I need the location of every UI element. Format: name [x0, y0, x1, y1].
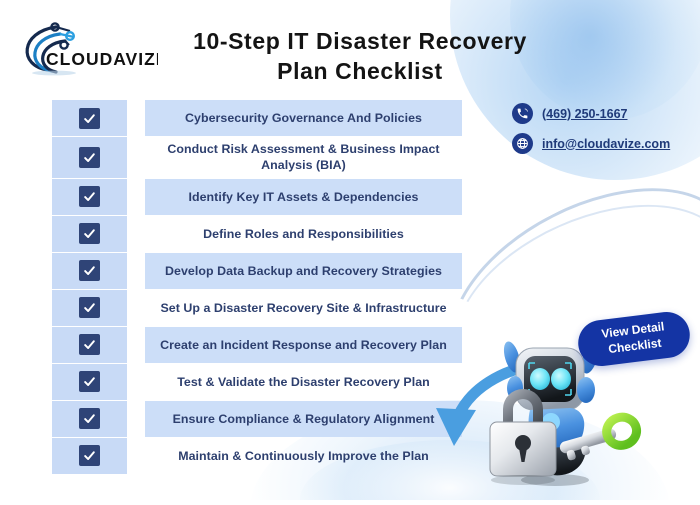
checkbox-cell[interactable] [52, 137, 127, 178]
row-spacer [127, 290, 145, 326]
checklist-row[interactable]: Maintain & Continuously Improve the Plan [52, 438, 462, 474]
checklist-item-label: Identify Key IT Assets & Dependencies [145, 179, 462, 215]
contact-email-text[interactable]: info@cloudavize.com [542, 137, 670, 151]
checkbox-checked-icon[interactable] [79, 297, 100, 318]
row-spacer [127, 216, 145, 252]
checklist-item-label: Ensure Compliance & Regulatory Alignment [145, 401, 462, 437]
page-title-line2: Plan Checklist [150, 56, 570, 86]
checklist-row[interactable]: Cybersecurity Governance And Policies [52, 100, 462, 136]
logo-wordmark: CLOUDAVIZE [46, 49, 158, 69]
row-spacer [127, 179, 145, 215]
checklist-row[interactable]: Test & Validate the Disaster Recovery Pl… [52, 364, 462, 400]
row-spacer [127, 364, 145, 400]
contact-phone-text[interactable]: (469) 250-1667 [542, 107, 627, 121]
checkbox-checked-icon[interactable] [79, 186, 100, 207]
checklist-row[interactable]: Set Up a Disaster Recovery Site & Infras… [52, 290, 462, 326]
checkbox-checked-icon[interactable] [79, 223, 100, 244]
contact-block: (469) 250-1667 info@cloudavize.com [512, 103, 670, 163]
checklist-row[interactable]: Create an Incident Response and Recovery… [52, 327, 462, 363]
checkbox-checked-icon[interactable] [79, 445, 100, 466]
checkbox-cell[interactable] [52, 364, 127, 400]
checklist-item-label: Set Up a Disaster Recovery Site & Infras… [145, 290, 462, 326]
row-spacer [127, 137, 145, 178]
checklist-row[interactable]: Conduct Risk Assessment & Business Impac… [52, 137, 462, 178]
contact-email-row[interactable]: info@cloudavize.com [512, 133, 670, 154]
checkbox-checked-icon[interactable] [79, 260, 100, 281]
checkbox-cell[interactable] [52, 179, 127, 215]
checklist-item-label: Maintain & Continuously Improve the Plan [145, 438, 462, 474]
checklist-item-label: Conduct Risk Assessment & Business Impac… [145, 137, 462, 178]
checklist-item-label: Define Roles and Responsibilities [145, 216, 462, 252]
checklist-row[interactable]: Ensure Compliance & Regulatory Alignment [52, 401, 462, 437]
checklist-row[interactable]: Define Roles and Responsibilities [52, 216, 462, 252]
cloudavize-swoosh-logo: CLOUDAVIZE [8, 16, 158, 78]
contact-phone-row[interactable]: (469) 250-1667 [512, 103, 670, 124]
checklist-row[interactable]: Identify Key IT Assets & Dependencies [52, 179, 462, 215]
checklist-item-label: Develop Data Backup and Recovery Strateg… [145, 253, 462, 289]
checkbox-cell[interactable] [52, 100, 127, 136]
checkbox-checked-icon[interactable] [79, 371, 100, 392]
checkbox-checked-icon[interactable] [79, 147, 100, 168]
checklist-item-label: Test & Validate the Disaster Recovery Pl… [145, 364, 462, 400]
checkbox-cell[interactable] [52, 401, 127, 437]
checkbox-cell[interactable] [52, 216, 127, 252]
page-title: 10-Step IT Disaster Recovery Plan Checkl… [150, 26, 570, 87]
checklist-item-label: Create an Incident Response and Recovery… [145, 327, 462, 363]
cloudavize-logo[interactable]: CLOUDAVIZE [8, 16, 158, 78]
checkbox-cell[interactable] [52, 438, 127, 474]
checklist: Cybersecurity Governance And PoliciesCon… [52, 100, 462, 475]
row-spacer [127, 100, 145, 136]
checkbox-checked-icon[interactable] [79, 108, 100, 129]
checklist-row[interactable]: Develop Data Backup and Recovery Strateg… [52, 253, 462, 289]
checkbox-cell[interactable] [52, 253, 127, 289]
globe-icon [512, 133, 533, 154]
checkbox-checked-icon[interactable] [79, 334, 100, 355]
phone-icon [512, 103, 533, 124]
row-spacer [127, 253, 145, 289]
row-spacer [127, 327, 145, 363]
row-spacer [127, 401, 145, 437]
page-title-line1: 10-Step IT Disaster Recovery [150, 26, 570, 56]
checkbox-cell[interactable] [52, 327, 127, 363]
checklist-item-label: Cybersecurity Governance And Policies [145, 100, 462, 136]
checkbox-checked-icon[interactable] [79, 408, 100, 429]
checkbox-cell[interactable] [52, 290, 127, 326]
row-spacer [127, 438, 145, 474]
